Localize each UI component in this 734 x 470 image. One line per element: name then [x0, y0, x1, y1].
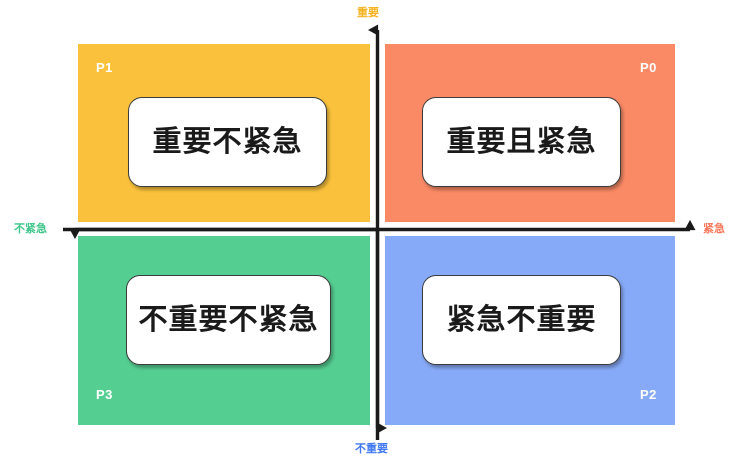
quadrant-card-label-p3: 不重要不紧急 — [138, 306, 318, 335]
priority-tag-p1: P1 — [96, 61, 113, 74]
axis-label-urgent: 紧急 — [703, 224, 725, 235]
quadrant-card-p0[interactable]: 重要且紧急 — [422, 97, 621, 187]
quadrant-card-label-p1: 重要不紧急 — [152, 128, 302, 157]
quadrant-card-p1[interactable]: 重要不紧急 — [128, 97, 327, 187]
quadrant-card-label-p2: 紧急不重要 — [446, 306, 596, 335]
quadrant-diagram-canvas: P1 P0 P3 P2 重要不紧急 重要且紧急 — [0, 0, 734, 470]
priority-tag-p0: P0 — [640, 61, 657, 74]
quadrant-card-label-p0: 重要且紧急 — [446, 128, 596, 157]
priority-tag-p3: P3 — [96, 388, 113, 401]
axis-label-not-urgent: 不紧急 — [14, 224, 47, 235]
axis-label-important: 重要 — [357, 8, 379, 19]
axis-label-not-important: 不重要 — [355, 444, 388, 455]
quadrant-card-p2[interactable]: 紧急不重要 — [422, 275, 621, 365]
quadrant-card-p3[interactable]: 不重要不紧急 — [126, 275, 331, 365]
priority-tag-p2: P2 — [640, 388, 657, 401]
